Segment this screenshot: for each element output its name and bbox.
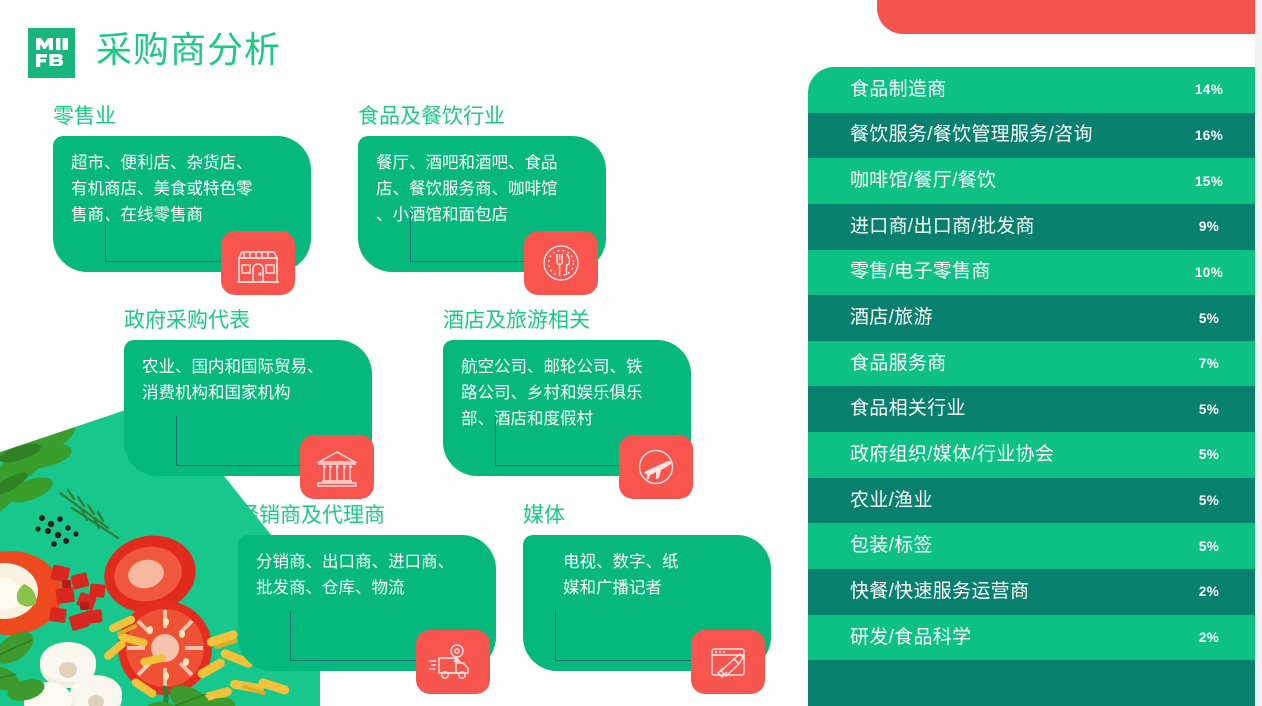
row-label: 餐饮服务/餐饮管理服务/咨询	[850, 123, 1163, 147]
card-title: 经销商及代理商	[238, 503, 496, 529]
card-government: 政府采购代表 农业、国内和国际贸易、 消费机构和国家机构	[124, 308, 372, 476]
table-row[interactable]: 研发/食品科学2%	[808, 615, 1255, 661]
table-row[interactable]: 咖啡馆/餐厅/餐饮15%	[808, 158, 1255, 204]
row-label: 咖啡馆/餐厅/餐饮	[850, 169, 1163, 193]
table-row[interactable]: 食品服务商7%	[808, 341, 1255, 387]
connector-line	[555, 611, 703, 661]
card-text: 电视、数字、纸 媒和广播记者	[563, 549, 753, 601]
table-row[interactable]: 进口商/出口商/批发商9%	[808, 204, 1255, 250]
row-label: 农业/渔业	[850, 489, 1163, 513]
stats-panel: 食品制造商14% 餐饮服务/餐饮管理服务/咨询16% 咖啡馆/餐厅/餐饮15% …	[808, 67, 1255, 706]
row-value: 5%	[1163, 402, 1255, 417]
card-title: 政府采购代表	[124, 308, 372, 334]
card-text: 农业、国内和国际贸易、 消费机构和国家机构	[142, 354, 354, 406]
table-row[interactable]: 食品制造商14%	[808, 67, 1255, 113]
slide-root: 采购商分析	[0, 0, 1262, 706]
card-retail: 零售业 超市、便利店、杂货店、 有机商店、美食或特色零 售商、在线零售商	[53, 104, 311, 272]
row-value: 9%	[1163, 219, 1255, 234]
mifb-logo	[28, 28, 75, 78]
table-row[interactable]: 酒店/旅游5%	[808, 295, 1255, 341]
row-label: 进口商/出口商/批发商	[850, 215, 1163, 239]
row-value: 2%	[1163, 584, 1255, 599]
row-value: 2%	[1163, 630, 1255, 645]
row-label: 包装/标签	[850, 534, 1163, 558]
row-value: 5%	[1163, 493, 1255, 508]
table-row[interactable]: 食品相关行业5%	[808, 386, 1255, 432]
row-value: 15%	[1163, 174, 1255, 189]
row-value: 5%	[1163, 539, 1255, 554]
row-label: 食品服务商	[850, 352, 1163, 376]
government-building-icon	[300, 435, 374, 499]
row-value: 7%	[1163, 356, 1255, 371]
table-row[interactable]: 农业/渔业5%	[808, 478, 1255, 524]
storefront-icon	[221, 231, 295, 295]
row-label: 酒店/旅游	[850, 306, 1163, 330]
red-accent-bar	[877, 0, 1262, 34]
row-label: 政府组织/媒体/行业协会	[850, 443, 1163, 467]
megaphone-browser-icon	[691, 630, 765, 694]
card-title: 媒体	[523, 503, 771, 529]
page-title: 采购商分析	[96, 27, 281, 73]
row-label: 快餐/快速服务运营商	[850, 580, 1163, 604]
table-row[interactable]: 包装/标签5%	[808, 523, 1255, 569]
table-row[interactable]: 政府组织/媒体/行业协会5%	[808, 432, 1255, 478]
right-edge-strip	[1255, 0, 1262, 706]
row-value: 5%	[1163, 447, 1255, 462]
card-food-beverage: 食品及餐饮行业 餐厅、酒吧和酒吧、食品 店、餐饮服务商、咖啡馆 、小酒馆和面包店	[358, 104, 606, 272]
row-value: 10%	[1163, 265, 1255, 280]
card-text: 分销商、出口商、进口商、 批发商、仓库、物流	[256, 549, 478, 601]
card-hotel-travel: 酒店及旅游相关 航空公司、邮轮公司、铁 路公司、乡村和娱乐俱乐 部、酒店和度假村	[443, 308, 691, 476]
table-row[interactable]: 餐饮服务/餐饮管理服务/咨询16%	[808, 113, 1255, 159]
airplane-circle-icon	[619, 435, 693, 499]
row-label: 食品制造商	[850, 78, 1163, 102]
row-label: 食品相关行业	[850, 397, 1163, 421]
row-value: 5%	[1163, 311, 1255, 326]
plate-cutlery-icon	[524, 231, 598, 295]
card-title: 酒店及旅游相关	[443, 308, 691, 334]
card-media: 媒体 电视、数字、纸 媒和广播记者	[523, 503, 771, 671]
row-label: 零售/电子零售商	[850, 260, 1163, 284]
card-distributor: 经销商及代理商 分销商、出口商、进口商、 批发商、仓库、物流	[238, 503, 496, 671]
delivery-truck-icon	[416, 630, 490, 694]
row-label: 研发/食品科学	[850, 626, 1163, 650]
row-value: 14%	[1163, 82, 1255, 97]
row-value: 16%	[1163, 128, 1255, 143]
table-row[interactable]	[808, 660, 1255, 706]
table-row[interactable]: 零售/电子零售商10%	[808, 250, 1255, 296]
card-title: 食品及餐饮行业	[358, 104, 606, 130]
card-title: 零售业	[53, 104, 311, 130]
table-row[interactable]: 快餐/快速服务运营商2%	[808, 569, 1255, 615]
